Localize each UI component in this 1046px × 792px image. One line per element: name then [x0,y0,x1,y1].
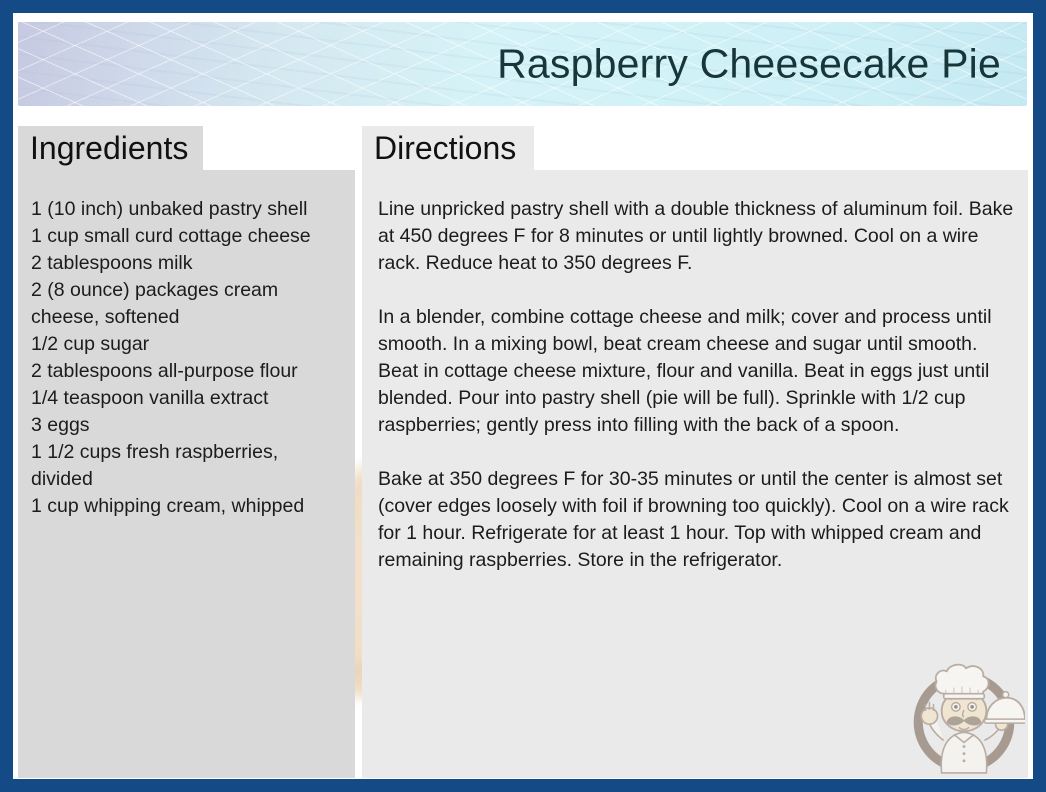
tab-ingredients[interactable]: Ingredients [18,126,203,170]
ingredients-list: 1 (10 inch) unbaked pastry shell 1 cup s… [18,170,355,520]
list-item: 1/2 cup sugar [31,331,345,358]
list-item: 2 (8 ounce) packages cream cheese, softe… [31,277,345,331]
directions-panel: Line unpricked pastry shell with a doubl… [362,170,1028,778]
ingredients-panel: 1 (10 inch) unbaked pastry shell 1 cup s… [18,170,355,778]
directions-paragraph: Line unpricked pastry shell with a doubl… [378,196,1014,277]
list-item: 1 (10 inch) unbaked pastry shell [31,196,345,223]
list-item: 1 cup small curd cottage cheese [31,223,345,250]
title-banner: Raspberry Cheesecake Pie [18,22,1027,106]
tab-directions[interactable]: Directions [362,126,534,170]
directions-paragraph: In a blender, combine cottage cheese and… [378,304,1014,439]
directions-body: Line unpricked pastry shell with a doubl… [362,170,1028,574]
tab-ingredients-label: Ingredients [30,130,188,167]
directions-paragraph: Bake at 350 degrees F for 30-35 minutes … [378,466,1014,574]
list-item: 2 tablespoons milk [31,250,345,277]
list-item: 2 tablespoons all-purpose flour [31,358,345,385]
list-item: 1 1/2 cups fresh raspberries, divided [31,439,345,493]
tab-directions-label: Directions [374,130,516,167]
recipe-card: Raspberry Cheesecake Pie [0,0,1046,792]
card-inner: Raspberry Cheesecake Pie [13,13,1033,779]
list-item: 1/4 teaspoon vanilla extract [31,385,345,412]
list-item: 3 eggs [31,412,345,439]
list-item: 1 cup whipping cream, whipped [31,493,345,520]
page-title: Raspberry Cheesecake Pie [497,41,1001,88]
